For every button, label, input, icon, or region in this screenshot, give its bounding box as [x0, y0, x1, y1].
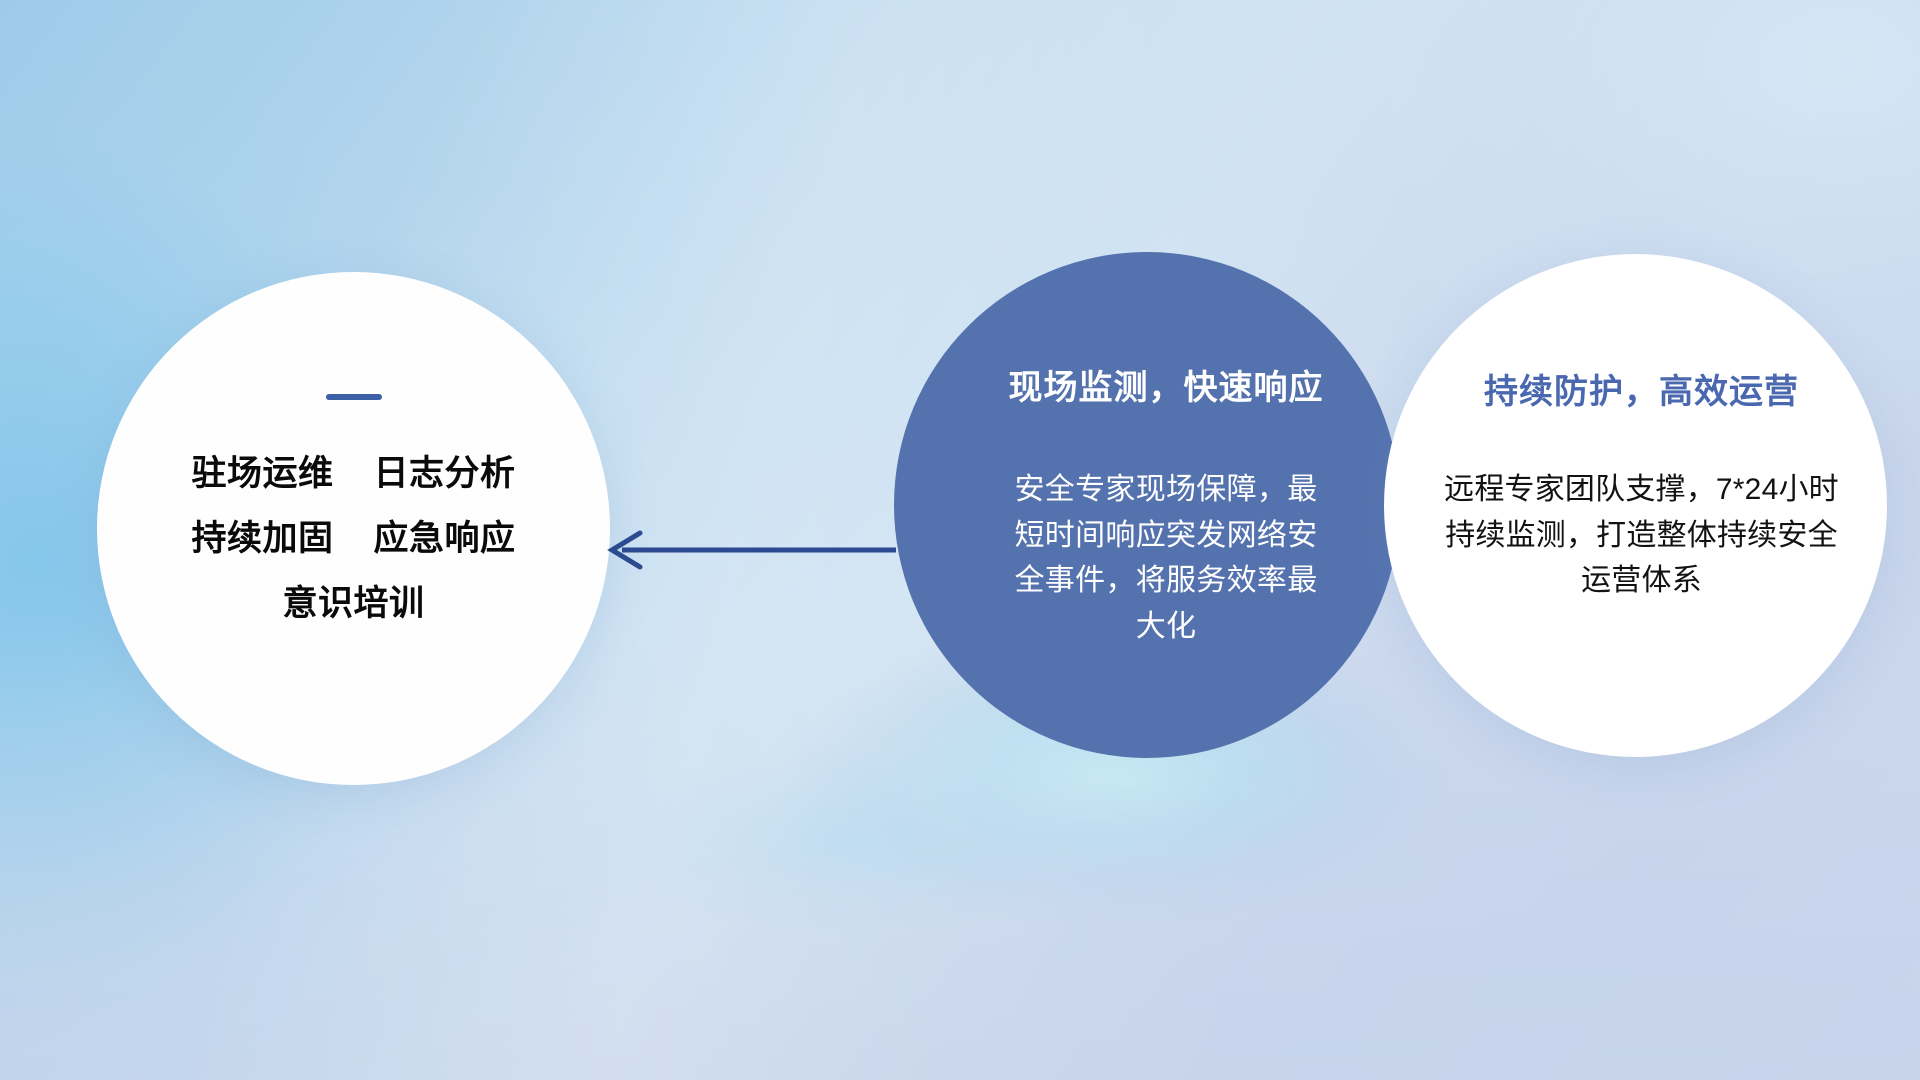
remote-operations-circle: 持续防护，高效运营 远程专家团队支撑，7*24小时持续监测，打造整体持续安全运营… [1384, 254, 1887, 757]
capabilities-content: 驻场运维 日志分析 持续加固 应急响应 意识培训 [97, 272, 610, 785]
remote-title: 持续防护，高效运营 [1484, 364, 1799, 413]
capability-tag: 日志分析 [374, 454, 516, 493]
remote-content: 持续防护，高效运营 远程专家团队支撑，7*24小时持续监测，打造整体持续安全运营… [1384, 254, 1887, 757]
capability-tag: 持续加固 [191, 519, 333, 558]
remote-description: 远程专家团队支撑，7*24小时持续监测，打造整体持续安全运营体系 [1442, 467, 1842, 604]
onsite-title: 现场监测，快速响应 [1009, 360, 1324, 409]
capability-row: 意识培训 [282, 584, 424, 623]
capability-tag: 驻场运维 [191, 454, 333, 493]
divider-dash-icon [326, 394, 382, 400]
onsite-monitoring-circle: 现场监测，快速响应 安全专家现场保障，最短时间响应突发网络安全事件，将服务效率最… [894, 252, 1400, 758]
capability-row: 驻场运维 日志分析 [191, 454, 515, 493]
slide-canvas: 驻场运维 日志分析 持续加固 应急响应 意识培训 现场监测，快速响应 安全专家现… [0, 0, 1920, 1080]
capabilities-circle: 驻场运维 日志分析 持续加固 应急响应 意识培训 [97, 272, 610, 785]
capability-row: 持续加固 应急响应 [191, 519, 515, 558]
capability-tag: 应急响应 [374, 519, 516, 558]
capability-tag: 意识培训 [282, 584, 424, 623]
onsite-description: 安全专家现场保障，最短时间响应突发网络安全事件，将服务效率最大化 [1013, 467, 1319, 649]
flow-arrow [596, 520, 896, 580]
left-arrow-icon [596, 520, 896, 580]
onsite-content: 现场监测，快速响应 安全专家现场保障，最短时间响应突发网络安全事件，将服务效率最… [894, 252, 1400, 758]
